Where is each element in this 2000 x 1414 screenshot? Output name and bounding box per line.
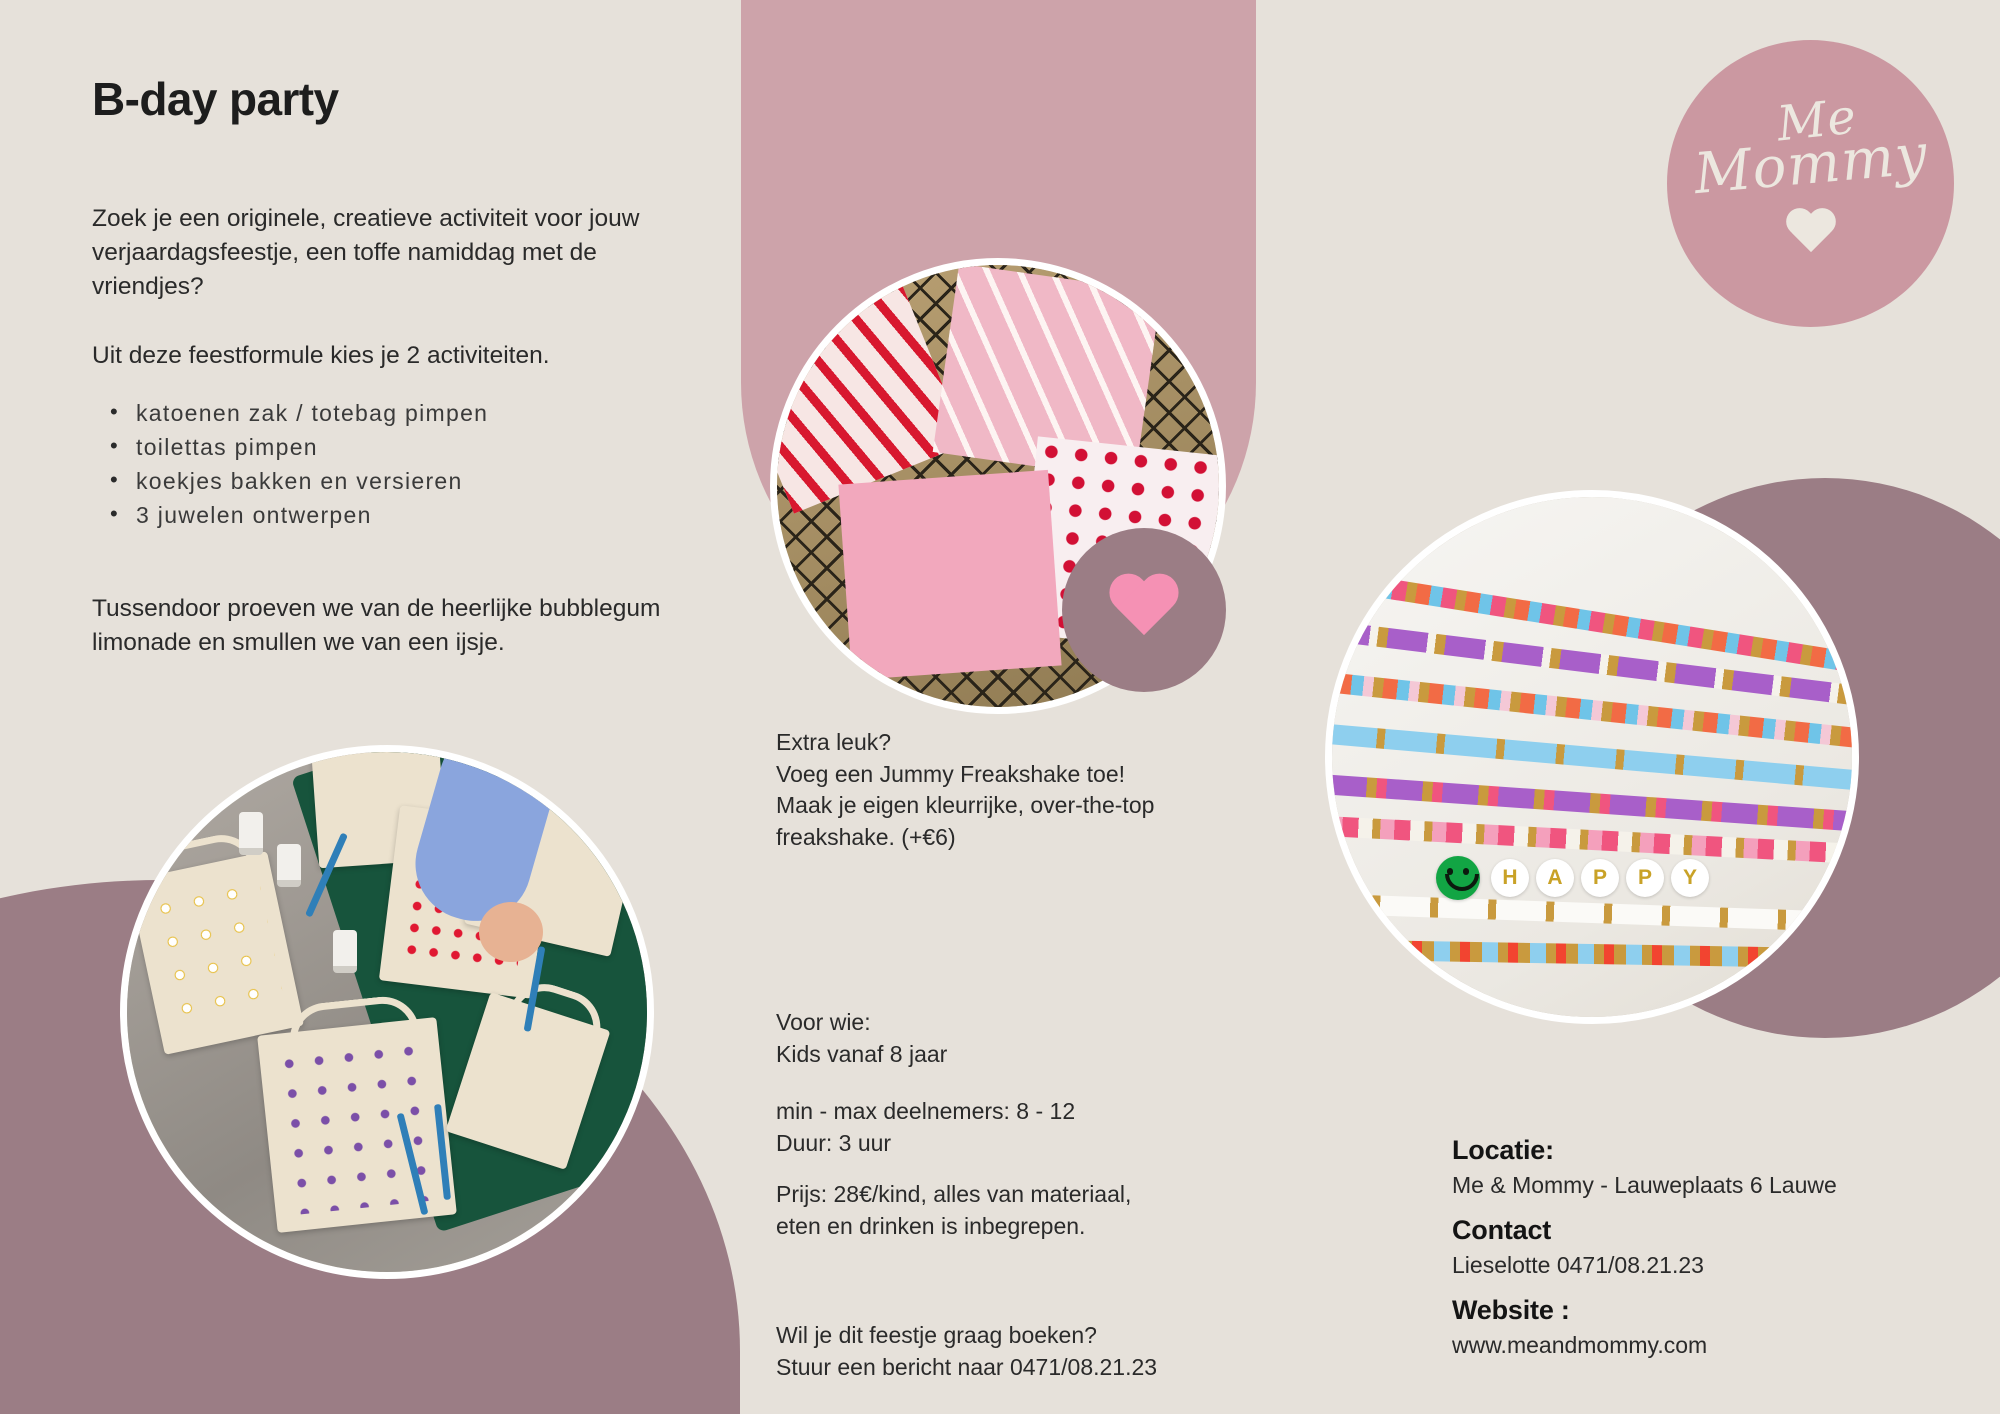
contact-label: Contact xyxy=(1452,1215,1972,1246)
paint-pot xyxy=(277,844,301,887)
participants-line: min - max deelnemers: 8 - 12 xyxy=(776,1096,1306,1128)
extra-line-4: freakshake. (+€6) xyxy=(776,822,1306,854)
extra-line-2: Voeg een Jummy Freakshake toe! xyxy=(776,759,1306,791)
paint-pot xyxy=(239,812,263,855)
happy-letter-beads: H A P P Y xyxy=(1436,856,1709,900)
child-hand xyxy=(479,902,543,962)
booking-block: Wil je dit feestje graag boeken? Stuur e… xyxy=(776,1320,1306,1383)
website-value[interactable]: www.meandmommy.com xyxy=(1452,1332,1972,1359)
smiley-face-bead xyxy=(1436,856,1480,900)
details-block: Voor wie: Kids vanaf 8 jaar min - max de… xyxy=(776,1007,1306,1242)
heart-icon xyxy=(1784,209,1838,259)
extra-freakshake-block: Extra leuk? Voeg een Jummy Freakshake to… xyxy=(776,727,1306,853)
list-item: koekjes bakken en versieren xyxy=(136,465,682,499)
photo-beads-inner: H A P P Y xyxy=(1332,497,1852,1017)
list-item: katoenen zak / totebag pimpen xyxy=(136,397,682,431)
choose-activities-line: Uit deze feestformule kies je 2 activite… xyxy=(92,339,682,373)
extra-heading: Extra leuk? xyxy=(776,727,1306,759)
booking-question: Wil je dit feestje graag boeken? xyxy=(776,1320,1306,1352)
tote-bag xyxy=(257,1017,457,1233)
price-line-1: Prijs: 28€/kind, alles van materiaal, xyxy=(776,1179,1306,1211)
intro-paragraph: Zoek je een originele, creatieve activit… xyxy=(92,202,682,303)
list-item: 3 juwelen ontwerpen xyxy=(136,499,682,533)
badge-heart-shape xyxy=(1106,575,1182,645)
extra-line-3: Maak je eigen kleurrijke, over-the-top xyxy=(776,790,1306,822)
bead-letter: A xyxy=(1536,859,1574,897)
booking-phone-line[interactable]: Stuur een bericht naar 0471/08.21.23 xyxy=(776,1352,1306,1384)
price-line-2: eten en drinken is inbegrepen. xyxy=(776,1211,1306,1243)
website-label: Website : xyxy=(1452,1295,1972,1326)
bead-letter: Y xyxy=(1671,859,1709,897)
cookie-pink-beaded xyxy=(838,470,1061,680)
activities-list: katoenen zak / totebag pimpen toilettas … xyxy=(92,397,682,532)
photo-tote-bags xyxy=(120,745,654,1279)
page-title: B-day party xyxy=(92,72,682,126)
snacks-paragraph: Tussendoor proeven we van de heerlijke b… xyxy=(92,592,682,660)
brand-logo[interactable]: Me Mommy xyxy=(1667,40,1954,327)
duration-line: Duur: 3 uur xyxy=(776,1128,1306,1160)
voor-wie-value: Kids vanaf 8 jaar xyxy=(776,1039,1306,1071)
contact-value[interactable]: Lieselotte 0471/08.21.23 xyxy=(1452,1252,1972,1279)
bead-letter: H xyxy=(1491,859,1529,897)
location-value: Me & Mommy - Lauweplaats 6 Lauwe xyxy=(1452,1172,1972,1199)
bead-letter: P xyxy=(1581,859,1619,897)
left-content-column: B-day party Zoek je een originele, creat… xyxy=(92,72,682,696)
photo-totes-inner xyxy=(127,752,647,1272)
photo-beaded-jewellery: H A P P Y xyxy=(1325,490,1859,1024)
bead-letter: P xyxy=(1626,859,1664,897)
poster-canvas: Me Mommy B-day party Zoek je een origine… xyxy=(0,0,2000,1414)
logo-inner: Me Mommy xyxy=(1694,97,1928,259)
list-item: toilettas pimpen xyxy=(136,431,682,465)
heart-badge-icon xyxy=(1062,528,1226,692)
voor-wie-label: Voor wie: xyxy=(776,1007,1306,1039)
paint-pot xyxy=(333,930,357,973)
location-label: Locatie: xyxy=(1452,1135,1972,1166)
contact-block: Locatie: Me & Mommy - Lauweplaats 6 Lauw… xyxy=(1452,1135,1972,1359)
